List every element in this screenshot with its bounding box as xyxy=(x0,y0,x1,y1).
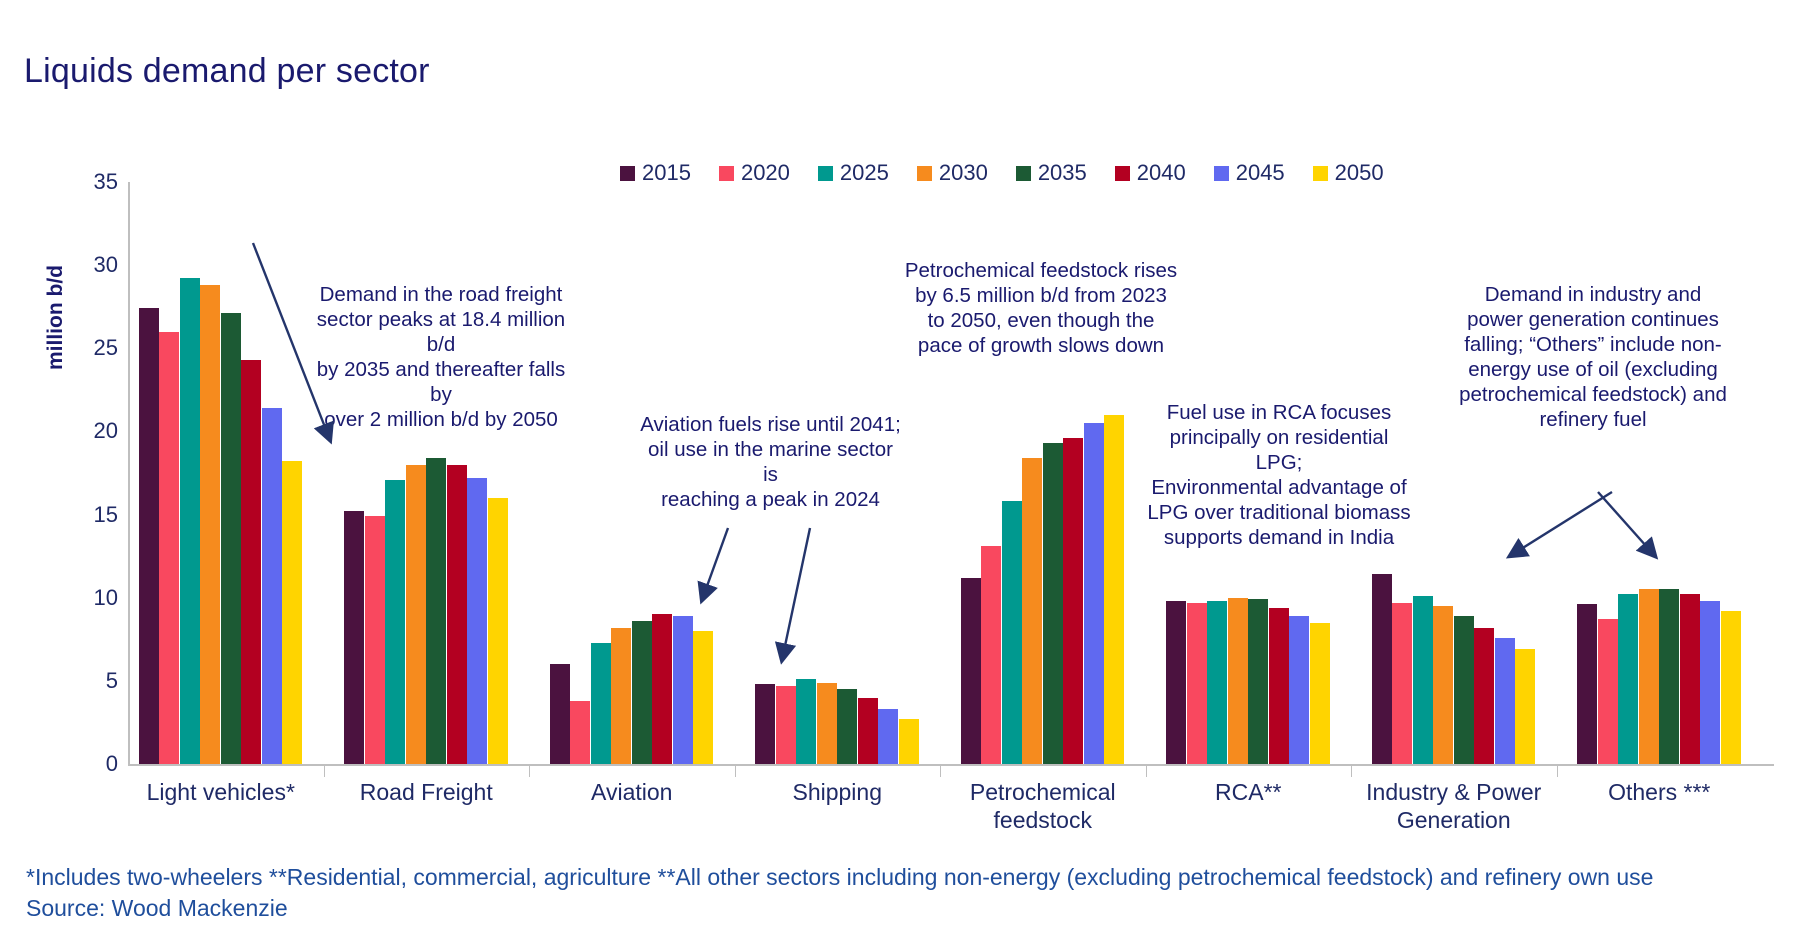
annotation-line: Fuel use in RCA focuses xyxy=(1144,400,1414,425)
annotation-line: Aviation fuels rise until 2041; xyxy=(638,412,903,437)
annotation-line: power generation continues xyxy=(1452,307,1734,332)
bar-industrypowergeneration-2050[interactable] xyxy=(1515,649,1535,764)
bar-lightvehicles-2025[interactable] xyxy=(180,278,200,764)
bar-shipping-2035[interactable] xyxy=(837,689,857,764)
bar-shipping-2030[interactable] xyxy=(817,683,837,764)
x-axis-label-2: Aviation xyxy=(529,778,735,806)
bar-roadfreight-2025[interactable] xyxy=(385,480,405,764)
annotation-line: petrochemical feedstock) and xyxy=(1452,382,1734,407)
bar-petrochemicalfeedstock-2030[interactable] xyxy=(1022,458,1042,764)
annotation-line: pace of growth slows down xyxy=(896,333,1186,358)
annotation-line: supports demand in India xyxy=(1144,525,1414,550)
x-axis-label-line: Generation xyxy=(1351,806,1557,834)
annotation-industry-others: Demand in industry andpower generation c… xyxy=(1452,282,1734,432)
bar-petrochemicalfeedstock-2040[interactable] xyxy=(1063,438,1083,764)
bar-petrochemicalfeedstock-2050[interactable] xyxy=(1104,415,1124,764)
annotation-line: reaching a peak in 2024 xyxy=(638,487,903,512)
x-axis-label-line: Light vehicles* xyxy=(118,778,324,806)
bar-roadfreight-2020[interactable] xyxy=(365,516,385,764)
bar-shipping-2045[interactable] xyxy=(878,709,898,764)
legend-swatch-icon xyxy=(719,166,734,181)
bar-shipping-2015[interactable] xyxy=(755,684,775,764)
y-axis-tick-10: 10 xyxy=(58,585,118,611)
annotation-line: Petrochemical feedstock rises xyxy=(896,258,1186,283)
bar-group-0 xyxy=(139,182,303,764)
x-axis-line xyxy=(128,764,1774,766)
annotation-road-freight: Demand in the road freightsector peaks a… xyxy=(306,282,576,432)
x-axis-group-separator xyxy=(1351,765,1352,777)
bar-shipping-2020[interactable] xyxy=(776,686,796,764)
annotation-line: principally on residential LPG; xyxy=(1144,425,1414,475)
x-axis-label-4: Petrochemicalfeedstock xyxy=(940,778,1146,834)
bar-roadfreight-2050[interactable] xyxy=(488,498,508,764)
bar-group-1 xyxy=(344,182,508,764)
bar-petrochemicalfeedstock-2025[interactable] xyxy=(1002,501,1022,764)
bar-others-2015[interactable] xyxy=(1577,604,1597,764)
x-axis-label-line: Industry & Power xyxy=(1351,778,1557,806)
bar-industrypowergeneration-2045[interactable] xyxy=(1495,638,1515,764)
x-axis-group-separator xyxy=(940,765,941,777)
legend-swatch-icon xyxy=(620,166,635,181)
bar-rca-2045[interactable] xyxy=(1289,616,1309,764)
x-axis-group-separator xyxy=(324,765,325,777)
legend-swatch-icon xyxy=(1115,166,1130,181)
annotation-line: oil use in the marine sector is xyxy=(638,437,903,487)
annotation-line: Demand in the road freight xyxy=(306,282,576,307)
bar-industrypowergeneration-2040[interactable] xyxy=(1474,628,1494,764)
x-axis-label-line: Petrochemical xyxy=(940,778,1146,806)
bar-lightvehicles-2020[interactable] xyxy=(159,332,179,764)
annotation-line: Demand in industry and xyxy=(1452,282,1734,307)
x-axis-label-line: Aviation xyxy=(529,778,735,806)
y-axis-tick-20: 20 xyxy=(58,418,118,444)
bar-others-2040[interactable] xyxy=(1680,594,1700,764)
bar-group-7 xyxy=(1577,182,1741,764)
bar-roadfreight-2015[interactable] xyxy=(344,511,364,764)
y-axis-tick-35: 35 xyxy=(58,169,118,195)
bar-others-2025[interactable] xyxy=(1618,594,1638,764)
bar-industrypowergeneration-2015[interactable] xyxy=(1372,574,1392,764)
y-axis-label: million b/d xyxy=(44,265,68,370)
bar-industrypowergeneration-2030[interactable] xyxy=(1433,606,1453,764)
annotation-line: sector peaks at 18.4 million b/d xyxy=(306,307,576,357)
x-axis-label-0: Light vehicles* xyxy=(118,778,324,806)
x-axis-label-3: Shipping xyxy=(735,778,941,806)
bar-others-2020[interactable] xyxy=(1598,619,1618,764)
annotation-line: energy use of oil (excluding xyxy=(1452,357,1734,382)
bar-others-2045[interactable] xyxy=(1700,601,1720,764)
y-axis-tick-5: 5 xyxy=(58,668,118,694)
x-axis-group-separator xyxy=(1557,765,1558,777)
bar-aviation-2050[interactable] xyxy=(693,631,713,764)
x-axis-label-1: Road Freight xyxy=(324,778,530,806)
annotation-line: to 2050, even though the xyxy=(896,308,1186,333)
bar-roadfreight-2035[interactable] xyxy=(426,458,446,764)
x-axis-label-7: Others *** xyxy=(1557,778,1763,806)
bar-aviation-2025[interactable] xyxy=(591,643,611,764)
x-axis-label-line: RCA** xyxy=(1146,778,1352,806)
x-axis-group-separator xyxy=(529,765,530,777)
bar-industrypowergeneration-2035[interactable] xyxy=(1454,616,1474,764)
bar-petrochemicalfeedstock-2020[interactable] xyxy=(981,546,1001,764)
x-axis-label-line: Shipping xyxy=(735,778,941,806)
x-axis-label-6: Industry & PowerGeneration xyxy=(1351,778,1557,834)
bar-aviation-2045[interactable] xyxy=(673,616,693,764)
annotation-line: over 2 million b/d by 2050 xyxy=(306,407,576,432)
bar-aviation-2015[interactable] xyxy=(550,664,570,764)
bar-rca-2015[interactable] xyxy=(1166,601,1186,764)
bar-aviation-2020[interactable] xyxy=(570,701,590,764)
x-axis-group-separator xyxy=(1146,765,1147,777)
bar-lightvehicles-2030[interactable] xyxy=(200,285,220,764)
footnote-line-1: *Includes two-wheelers **Residential, co… xyxy=(26,862,1653,893)
x-axis-label-line: Road Freight xyxy=(324,778,530,806)
bar-rca-2020[interactable] xyxy=(1187,603,1207,764)
bar-rca-2040[interactable] xyxy=(1269,608,1289,764)
footnote: *Includes two-wheelers **Residential, co… xyxy=(26,862,1653,924)
bar-shipping-2050[interactable] xyxy=(899,719,919,764)
legend-swatch-icon xyxy=(917,166,932,181)
bar-lightvehicles-2035[interactable] xyxy=(221,313,241,764)
legend-swatch-icon xyxy=(1313,166,1328,181)
legend-swatch-icon xyxy=(1214,166,1229,181)
bar-aviation-2040[interactable] xyxy=(652,614,672,764)
bar-lightvehicles-2015[interactable] xyxy=(139,308,159,764)
bar-others-2050[interactable] xyxy=(1721,611,1741,764)
annotation-line: by 6.5 million b/d from 2023 xyxy=(896,283,1186,308)
annotation-petrochemical: Petrochemical feedstock risesby 6.5 mill… xyxy=(896,258,1186,358)
bar-lightvehicles-2040[interactable] xyxy=(241,360,261,764)
annotation-line: Environmental advantage of xyxy=(1144,475,1414,500)
bar-petrochemicalfeedstock-2045[interactable] xyxy=(1084,423,1104,764)
bar-shipping-2040[interactable] xyxy=(858,698,878,765)
x-axis-label-5: RCA** xyxy=(1146,778,1352,806)
x-axis-label-line: feedstock xyxy=(940,806,1146,834)
bar-rca-2050[interactable] xyxy=(1310,623,1330,764)
slide-canvas: Liquids demand per sector million b/d 05… xyxy=(0,0,1800,929)
x-axis-group-separator xyxy=(735,765,736,777)
annotation-line: refinery fuel xyxy=(1452,407,1734,432)
bar-roadfreight-2040[interactable] xyxy=(447,465,467,764)
bar-roadfreight-2030[interactable] xyxy=(406,465,426,764)
annotation-line: by 2035 and thereafter falls by xyxy=(306,357,576,407)
y-axis-tick-0: 0 xyxy=(58,751,118,777)
page-title: Liquids demand per sector xyxy=(24,52,430,91)
y-axis-tick-15: 15 xyxy=(58,502,118,528)
bar-lightvehicles-2045[interactable] xyxy=(262,408,282,764)
bar-lightvehicles-2050[interactable] xyxy=(282,461,302,764)
annotation-aviation-shipping: Aviation fuels rise until 2041;oil use i… xyxy=(638,412,903,512)
bar-rca-2025[interactable] xyxy=(1207,601,1227,764)
bar-others-2035[interactable] xyxy=(1659,589,1679,764)
footnote-line-2: Source: Wood Mackenzie xyxy=(26,893,1653,924)
annotation-line: falling; “Others” include non- xyxy=(1452,332,1734,357)
bar-roadfreight-2045[interactable] xyxy=(467,478,487,764)
bar-industrypowergeneration-2020[interactable] xyxy=(1392,603,1412,764)
bar-rca-2030[interactable] xyxy=(1228,598,1248,764)
bar-petrochemicalfeedstock-2015[interactable] xyxy=(961,578,981,764)
bar-aviation-2035[interactable] xyxy=(632,621,652,764)
bar-aviation-2030[interactable] xyxy=(611,628,631,764)
bar-petrochemicalfeedstock-2035[interactable] xyxy=(1043,443,1063,764)
bar-industrypowergeneration-2025[interactable] xyxy=(1413,596,1433,764)
bar-others-2030[interactable] xyxy=(1639,589,1659,764)
annotation-rca: Fuel use in RCA focusesprincipally on re… xyxy=(1144,400,1414,550)
annotation-line: LPG over traditional biomass xyxy=(1144,500,1414,525)
legend-swatch-icon xyxy=(1016,166,1031,181)
bar-rca-2035[interactable] xyxy=(1248,599,1268,764)
bar-shipping-2025[interactable] xyxy=(796,679,816,764)
legend-swatch-icon xyxy=(818,166,833,181)
x-axis-label-line: Others *** xyxy=(1557,778,1763,806)
